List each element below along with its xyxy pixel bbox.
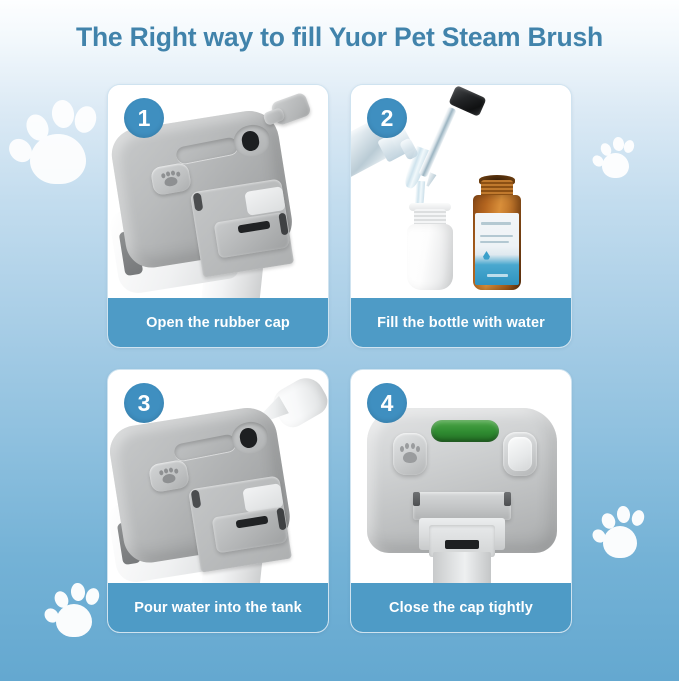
step-illustration-1: 1: [108, 85, 328, 300]
step-caption-3: Pour water into the tank: [108, 583, 328, 632]
step-caption-1: Open the rubber cap: [108, 298, 328, 347]
paw-print-icon: [8, 98, 100, 192]
paw-button-icon: [399, 443, 421, 465]
step-card-1: 1 Open the rubber cap: [107, 84, 329, 348]
step-illustration-2: 2: [351, 85, 571, 300]
rubber-cap-closed[interactable]: [413, 492, 511, 520]
paw-toe: [599, 142, 613, 158]
paw-pad: [30, 134, 86, 184]
paw-toe: [630, 509, 646, 528]
step-caption-4: Close the cap tightly: [351, 583, 571, 632]
step-badge-3: 3: [124, 383, 164, 423]
paw-pad: [602, 153, 629, 178]
pipette-tube: [418, 106, 456, 177]
water-drop-icon: [483, 251, 490, 260]
label-brand-line: [481, 222, 511, 225]
paw-toe: [22, 111, 52, 144]
paw-toe: [590, 153, 605, 169]
device-stem: [433, 552, 491, 585]
paw-toe: [72, 104, 100, 136]
step-badge-2: 2: [367, 98, 407, 138]
paw-toe: [599, 511, 617, 531]
step-caption-2: Fill the bottle with water: [351, 298, 571, 347]
paw-toe: [42, 606, 62, 626]
paw-toe: [52, 589, 71, 610]
step-badge-4: 4: [367, 383, 407, 423]
oil-bottle-label: [475, 213, 519, 285]
label-text-line: [480, 235, 513, 237]
cap-hinge-right: [504, 492, 511, 506]
steps-grid: 1 Open the rubber cap: [107, 84, 572, 633]
paw-toe: [50, 99, 75, 129]
paw-print-icon: [592, 505, 647, 561]
paw-toe: [616, 505, 631, 523]
device-slot-slit: [445, 540, 479, 549]
step-card-4: 4 Close the cap tightly: [350, 369, 572, 633]
white-water-bottle: [407, 224, 453, 290]
step-card-3: 3 Pour water into the tank: [107, 369, 329, 633]
paw-toe: [84, 586, 101, 606]
paw-pad: [56, 604, 92, 637]
paw-toe: [70, 582, 86, 601]
label-volume-line: [487, 274, 508, 277]
paw-print-icon: [592, 136, 636, 181]
paw-print-icon: [44, 582, 102, 640]
page-title: The Right way to fill Yuor Pet Steam Bru…: [0, 22, 679, 53]
paw-toe: [622, 139, 635, 154]
device-power-button-inner: [508, 437, 532, 471]
step-illustration-4: 4: [351, 370, 571, 585]
paw-toe: [612, 136, 624, 151]
label-text-line: [480, 241, 509, 243]
step-illustration-3: 3: [108, 370, 328, 585]
paw-pad: [603, 526, 637, 558]
step-card-2: 2 Fill the bottle with water: [350, 84, 572, 348]
paw-toe: [590, 527, 608, 545]
cap-hinge-left: [413, 492, 420, 506]
step-badge-1: 1: [124, 98, 164, 138]
status-indicator-green: [431, 420, 499, 442]
paw-toe: [4, 134, 36, 167]
